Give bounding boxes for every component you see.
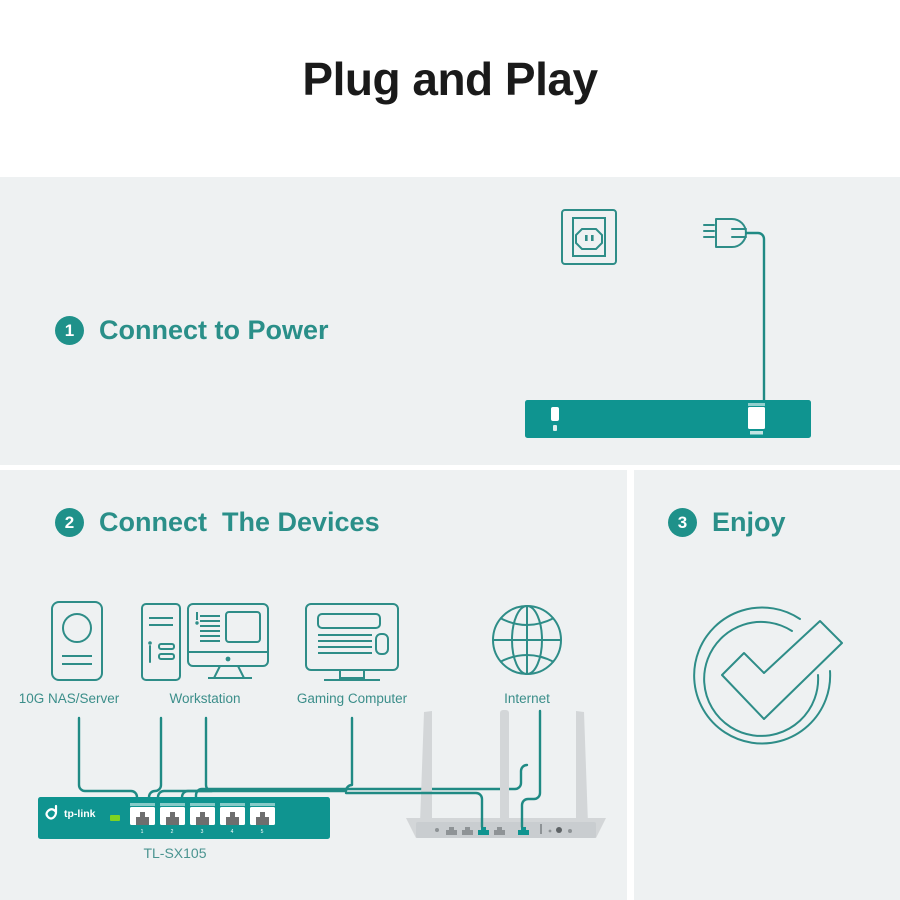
device-label-internet: Internet [504,691,550,706]
step-3-heading: 3 Enjoy [668,507,786,538]
gaming-computer-icon [306,604,398,680]
switch-device-icon: tp-link 1 2 [38,797,330,839]
svg-text:1: 1 [141,829,144,835]
step-2-badge: 2 [55,508,84,537]
switch-device-icon [525,400,811,438]
step-3-badge: 3 [668,508,697,537]
plug-and-play-page: Plug and Play 1 Connect to Power 2 Conne… [0,0,900,900]
step-2-heading: 2 Connect The Devices [55,507,380,538]
page-header: Plug and Play [0,0,900,175]
svg-text:tp-link: tp-link [64,808,96,820]
step-3-illustration [680,595,860,775]
switch-model-label: TL-SX105 [143,845,206,861]
internet-globe-icon [493,606,561,674]
step-3-title: Enjoy [712,507,786,538]
wall-outlet-icon [562,210,616,264]
step-1-heading: 1 Connect to Power [55,315,329,346]
page-title: Plug and Play [302,52,597,124]
power-plug-icon [704,219,746,247]
step-1-illustration [520,195,850,445]
step-2-illustration: 10G NAS/Server Workstation [10,590,620,880]
check-circle-icon [694,607,842,743]
svg-text:3: 3 [201,829,204,835]
step-1-title: Connect to Power [99,315,329,346]
step-2-title: Connect The Devices [99,507,380,538]
power-cable [746,233,764,400]
workstation-icon [142,604,268,680]
device-label-workstation: Workstation [169,691,240,706]
svg-text:4: 4 [231,829,234,835]
device-label-nas: 10G NAS/Server [19,691,120,706]
power-led [110,815,120,821]
svg-text:5: 5 [261,829,264,835]
svg-text:2: 2 [171,829,174,835]
device-label-gaming: Gaming Computer [297,691,408,706]
nas-server-icon [52,602,102,680]
router-icon [346,710,606,838]
step-1-badge: 1 [55,316,84,345]
